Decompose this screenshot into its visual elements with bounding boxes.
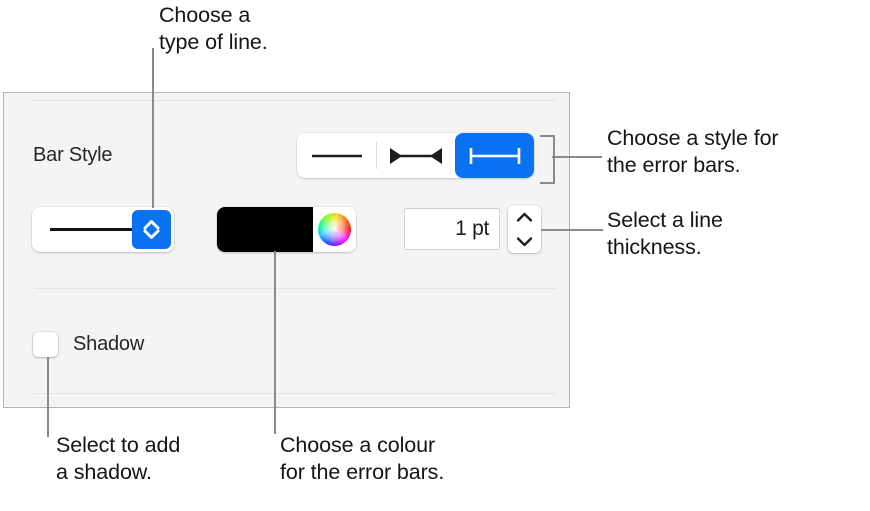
leader-bracket-error-bar-style <box>540 135 555 184</box>
line-thickness-stepper[interactable] <box>508 205 541 253</box>
chevron-down-icon <box>515 235 534 248</box>
callout-line-thickness: Select a line thickness. <box>607 207 857 261</box>
stepper-increment-button[interactable] <box>508 205 541 229</box>
segment-divider <box>455 142 456 169</box>
error-bar-style-segmented-control[interactable] <box>297 133 534 178</box>
line-thickness-field[interactable]: 1 pt <box>404 208 500 250</box>
shadow-row: Shadow <box>33 332 144 357</box>
leader-line-error-bar-style <box>552 156 602 158</box>
segment-arrow-caps[interactable] <box>376 133 455 178</box>
screenshot-root: Bar Style <box>0 0 870 511</box>
colour-swatch[interactable] <box>217 207 313 252</box>
leader-line-type-of-line <box>152 48 154 208</box>
shadow-checkbox[interactable] <box>33 332 58 357</box>
colour-picker-button[interactable] <box>313 207 356 252</box>
colour-wheel-icon <box>318 213 351 246</box>
t-caps-line-icon <box>463 145 527 167</box>
colour-well[interactable] <box>217 207 356 252</box>
leader-line-add-shadow <box>47 357 49 437</box>
solid-line-icon <box>50 228 133 231</box>
stepper-decrement-button[interactable] <box>508 229 541 253</box>
line-thickness-value: 1 pt <box>455 217 489 241</box>
callout-error-bar-style: Choose a style for the error bars. <box>607 125 865 179</box>
chevron-up-icon <box>515 211 534 224</box>
leader-line-colour-for-error-bars <box>274 251 276 434</box>
callout-type-of-line: Choose a type of line. <box>159 2 419 56</box>
bar-style-label: Bar Style <box>33 144 112 167</box>
chevron-up-down-icon[interactable] <box>132 210 171 249</box>
callout-add-shadow: Select to add a shadow. <box>56 432 286 486</box>
segment-plain-line[interactable] <box>297 133 376 178</box>
callout-colour-for-error-bars: Choose a colour for the error bars. <box>280 432 570 486</box>
leader-line-line-thickness <box>541 229 603 231</box>
arrow-caps-line-icon <box>384 145 448 167</box>
panel-separator-middle <box>34 288 556 289</box>
panel-separator-top <box>34 100 556 101</box>
shadow-label: Shadow <box>73 333 144 356</box>
plain-line-icon <box>307 146 367 166</box>
panel-separator-bottom <box>34 393 556 394</box>
segment-divider <box>376 142 377 169</box>
segment-t-caps[interactable] <box>455 133 534 178</box>
line-style-popup-button[interactable] <box>32 207 174 252</box>
